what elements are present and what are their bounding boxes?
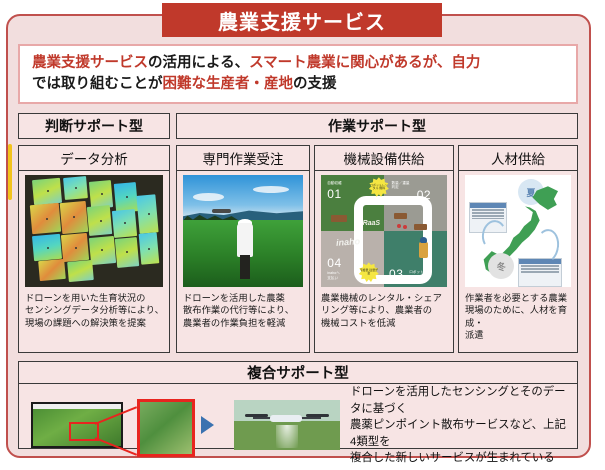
lead-line-1: 農業支援サービスの活用による、スマート農業に関心があるが、自力 [32,53,566,74]
caption-line: 農業者の作業負担を軽減 [183,317,304,329]
caption-line: センシングデータ分析等により、 [25,304,164,316]
vegetable-icon [397,224,401,228]
inaho-raas-poster-image: 自動収穫 01 数量／重量 判定 02 03 ロボットの 収穫高計算 04 in… [321,175,447,287]
leaf-zoom-detail [137,399,195,457]
caption-line: 機械コストを低減 [321,317,448,329]
caption-line: 派遣 [465,329,572,341]
composite-line: 農薬ピンポイント散布サービスなど、上記4類型を [350,417,571,450]
flow-arrow-icon [201,416,214,434]
infographic-page: 農業支援サービス 農業支援サービスの活用による、スマート農業に関心があるが、自力… [0,0,605,470]
composite-description: ドローンを活用したセンシングとそのデータに基づく 農薬ピンポイント散布サービスな… [340,384,571,467]
raas-center-label: RaaS [363,220,381,227]
lead-line-2: では取り組むことが困難な生産者・産地の支援 [32,74,566,95]
card-head-specialist-work: 専門作業受注 [177,146,309,171]
section-header-judgement: 判断サポート型 [18,113,170,139]
card-machinery-supply: 機械設備供給 自動収穫 01 数量／重量 判定 02 03 ロボットの 収穫高計… [314,145,454,353]
card-caption-human-resources: 作業者を必要とする農業 現場のために、人材を育成・ 派遣 [459,287,577,352]
section-label-judgement: 判断サポート型 [45,116,143,136]
card-head-human-resources: 人材供給 [459,146,577,171]
caption-line: リング等により、農業者の [321,304,448,316]
card-caption-data-analysis: ドローンを用いた生育状況の センシングデータ分析等により、 現場の課題への解決策… [19,287,169,352]
crate-icon [331,215,347,222]
page-title: 農業支援サービス [218,6,386,35]
ndvi-field-heatmap-image [25,175,163,287]
card-caption-machinery-supply: 農業機械のレンタル・シェア リング等により、農業者の 機械コストを低減 [315,287,453,352]
caption-line: 作業者を必要とする農業 [465,292,572,304]
raas-label-02: 数量／重量 判定 [392,181,410,190]
worker-icon [419,242,428,258]
lead-plain-1: の活用による、 [148,55,249,71]
raas-label-01: 自動収穫 [327,181,341,185]
lead-plain-3: の支援 [293,76,337,92]
caption-line: 散布作業の代行等により、 [183,304,304,316]
yellow-accent-bar [8,144,12,200]
japan-map-seasonal-image: 夏 冬 [465,175,571,287]
caption-line: 現場のために、人材を育成・ [465,304,572,329]
lead-statement: 農業支援サービスの活用による、スマート農業に関心があるが、自力 では取り組むこと… [18,44,578,104]
season-winter-badge: 冬 [488,253,514,279]
leaf-sensing-zoom-image [25,398,230,452]
card-specialist-work: 専門作業受注 ドローンを活用した農薬 散布作業の代行等により、 農業者の作業負担… [176,145,310,353]
composite-head: 複合サポート型 [19,362,577,384]
section-header-work: 作業サポート型 [176,113,578,139]
info-card-right [518,258,562,287]
raas-label-04: inahoへ 支払い [327,271,339,280]
lead-highlight-service: 農業支援サービス [32,55,148,71]
card-caption-specialist-work: ドローンを活用した農薬 散布作業の代行等により、 農業者の作業負担を軽減 [177,287,309,352]
inaho-brand-logo: inaho [336,236,361,248]
card-data-analysis: データ分析 [18,145,170,353]
composite-line: 複合した新しいサービスが生まれている [350,450,571,467]
card-head-machinery-supply: 機械設備供給 [315,146,453,171]
card-head-data-analysis: データ分析 [19,146,169,171]
caption-line: ドローンを活用した農薬 [183,292,304,304]
drone-operator-field-image [183,175,303,287]
crate-icon [414,224,427,230]
caption-line: 現場の課題への解決策を提案 [25,317,164,329]
burst-badge-top-text: ロボットレンタル 無料 [369,184,389,191]
title-banner: 農業支援サービス [162,3,442,37]
section-label-work: 作業サポート型 [328,116,426,136]
spraying-drone-image [234,400,340,450]
card-human-resources: 人材供給 夏 冬 作業者を必要とする農業 [458,145,578,353]
caption-line: ドローンを用いた生育状況の [25,292,164,304]
lead-plain-2: では取り組むことが [32,76,163,92]
lead-highlight-producer: 困難な生産者・産地 [163,76,294,92]
card-composite-support: 複合サポート型 ドロ [18,361,578,449]
composite-line: ドローンを活用したセンシングとそのデータに基づく [350,384,571,417]
crate-icon [394,213,407,219]
caption-line: 農業機械のレンタル・シェア [321,292,448,304]
raas-num-04: 04 [327,256,341,270]
burst-badge-bottom-text: 収穫量 従量課金 [359,269,379,276]
raas-num-01: 01 [327,187,341,201]
composite-body: ドローンを活用したセンシングとそのデータに基づく 農薬ピンポイント散布サービスな… [19,384,577,467]
lead-highlight-smart: スマート農業に関心があるが、自力 [249,55,480,71]
